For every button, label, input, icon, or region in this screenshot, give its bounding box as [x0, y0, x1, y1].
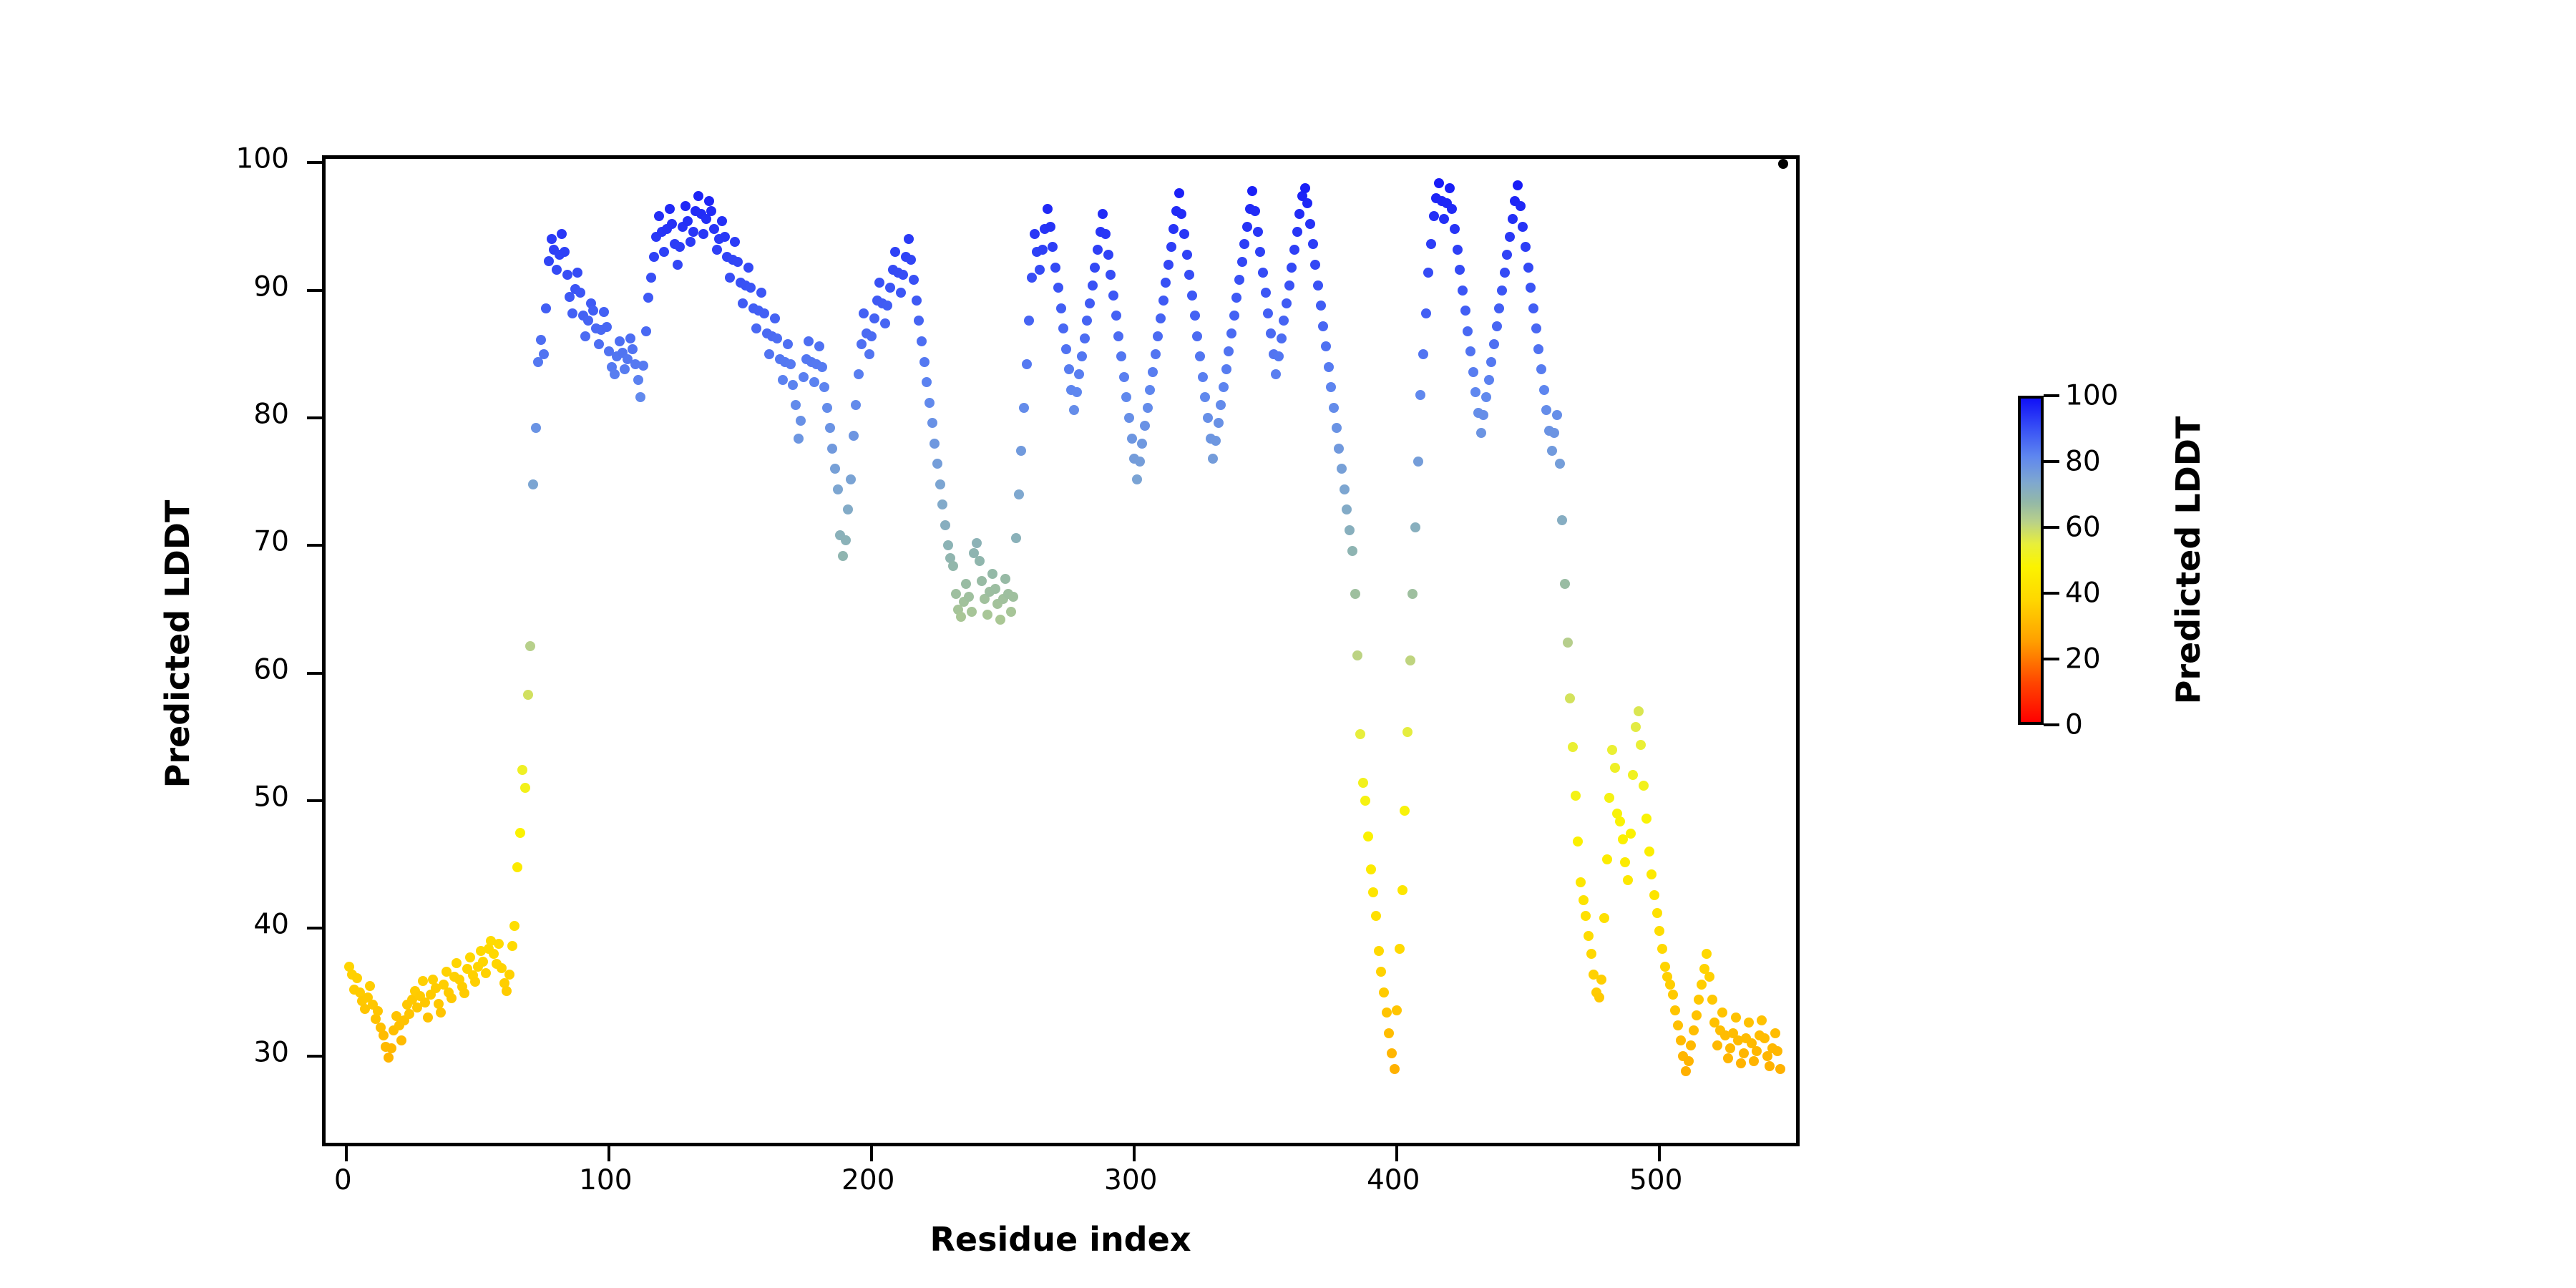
- scatter-point: [1531, 323, 1541, 333]
- scatter-point: [1137, 439, 1147, 449]
- scatter-point: [418, 976, 428, 986]
- scatter-point: [1038, 245, 1048, 255]
- scatter-point: [1639, 781, 1649, 791]
- scatter-point: [1184, 270, 1194, 280]
- scatter-point: [1048, 242, 1058, 252]
- scatter-point: [1407, 589, 1418, 599]
- scatter-point: [1179, 229, 1189, 239]
- scatter-point: [972, 538, 982, 548]
- x-axis-tick: [1133, 1143, 1136, 1161]
- scatter-point: [1676, 1035, 1686, 1045]
- scatter-point: [1132, 474, 1142, 484]
- scatter-point: [730, 237, 740, 247]
- scatter-point: [1620, 857, 1630, 867]
- scatter-point: [1156, 313, 1166, 323]
- x-axis-tick: [1658, 1143, 1661, 1161]
- colorbar-tick-label: 80: [2065, 448, 2101, 476]
- scatter-point: [1486, 357, 1496, 367]
- scatter-point: [904, 234, 914, 244]
- scatter-point: [1410, 522, 1420, 532]
- scatter-point: [1505, 232, 1515, 242]
- scatter-point: [1358, 778, 1368, 788]
- scatter-point: [1211, 436, 1221, 446]
- scatter-point: [1382, 1008, 1392, 1018]
- scatter-point: [1636, 740, 1646, 750]
- scatter-point: [1528, 303, 1538, 313]
- scatter-point: [1634, 706, 1644, 716]
- scatter-point: [1458, 286, 1468, 296]
- scatter-point: [1030, 229, 1040, 239]
- scatter-point: [896, 288, 906, 298]
- scatter-point: [987, 569, 997, 579]
- scatter-point: [1760, 1033, 1770, 1043]
- scatter-point: [523, 690, 533, 700]
- scatter-point: [1282, 298, 1292, 308]
- scatter-point: [1190, 311, 1200, 321]
- scatter-point: [1234, 275, 1244, 285]
- scatter-point: [1271, 369, 1281, 379]
- scatter-point: [1292, 227, 1302, 237]
- colorbar-tick-label: 20: [2065, 645, 2101, 673]
- scatter-point: [1379, 987, 1389, 997]
- scatter-point: [1116, 351, 1126, 361]
- scatter-point: [1723, 1053, 1733, 1063]
- scatter-point: [544, 256, 554, 266]
- scatter-point: [1027, 273, 1037, 283]
- scatter-point: [654, 211, 664, 221]
- scatter-point: [1221, 364, 1231, 374]
- scatter-point: [531, 423, 541, 433]
- scatter-point: [1770, 1028, 1780, 1038]
- scatter-point: [602, 322, 612, 332]
- scatter-point: [764, 349, 774, 359]
- scatter-point: [528, 479, 538, 489]
- scatter-point: [1355, 729, 1365, 739]
- scatter-point: [1549, 428, 1559, 438]
- scatter-point: [1043, 204, 1053, 214]
- scatter-point: [869, 313, 879, 323]
- scatter-point: [1453, 245, 1463, 255]
- scatter-point: [504, 970, 514, 980]
- x-axis-tick: [608, 1143, 610, 1161]
- scatter-point: [1313, 280, 1323, 291]
- scatter-point: [924, 398, 935, 408]
- scatter-point: [743, 263, 753, 273]
- scatter-point: [1539, 385, 1549, 395]
- scatter-point: [1151, 349, 1161, 359]
- scatter-point: [1681, 1066, 1691, 1076]
- scatter-point: [717, 216, 727, 226]
- scatter-point: [557, 229, 567, 239]
- scatter-point: [1019, 403, 1029, 413]
- scatter-point: [1098, 209, 1108, 219]
- scatter-point: [1045, 222, 1055, 232]
- scatter-point: [1465, 346, 1475, 356]
- scatter-point: [567, 308, 577, 318]
- scatter-point: [756, 288, 766, 298]
- scatter-point: [1460, 306, 1470, 316]
- scatter-point: [1219, 382, 1229, 392]
- scatter-point: [1712, 1040, 1722, 1050]
- scatter-point: [680, 201, 691, 211]
- scatter-point: [507, 941, 517, 951]
- scatter-point: [547, 234, 557, 244]
- scatter-point: [1584, 931, 1594, 941]
- scatter-point: [452, 958, 462, 968]
- colorbar-gradient: [2018, 396, 2044, 725]
- scatter-point: [796, 416, 806, 426]
- scatter-point: [909, 275, 919, 285]
- scatter-point: [843, 504, 853, 514]
- scatter-point: [1423, 268, 1433, 278]
- scatter-point: [1332, 423, 1342, 433]
- scatter-point: [1061, 344, 1071, 354]
- scatter-point: [1547, 446, 1557, 456]
- scatter-point: [1429, 211, 1439, 221]
- scatter-point: [1014, 489, 1024, 499]
- scatter-point: [846, 474, 856, 484]
- scatter-point: [859, 308, 869, 318]
- scatter-point: [628, 344, 638, 354]
- scatter-point: [1294, 209, 1304, 219]
- scatter-point: [688, 227, 698, 237]
- x-axis-tick-labels: 0100200300400500: [322, 1166, 1800, 1216]
- scatter-point: [1192, 331, 1202, 341]
- scatter-point: [1069, 405, 1079, 415]
- scatter-point: [943, 540, 953, 550]
- scatter-point: [1670, 1005, 1680, 1015]
- colorbar-tick: [2044, 658, 2059, 660]
- scatter-point: [1064, 364, 1074, 374]
- scatter-point: [1516, 201, 1526, 211]
- scatter-point: [851, 400, 861, 410]
- scatter-point: [1631, 722, 1641, 732]
- scatter-point: [1599, 913, 1609, 923]
- x-axis-tick: [345, 1143, 348, 1161]
- scatter-point: [575, 288, 585, 298]
- scatter-point: [1035, 265, 1045, 275]
- scatter-point: [1176, 209, 1186, 219]
- scatter-point: [1187, 291, 1197, 301]
- scatter-point: [1405, 655, 1415, 665]
- scatter-point: [1573, 836, 1583, 847]
- scatter-point: [1775, 1064, 1785, 1074]
- scatter-point: [1345, 525, 1355, 535]
- scatter-point: [930, 439, 940, 449]
- scatter-point: [794, 434, 804, 444]
- scatter-point: [838, 551, 848, 561]
- scatter-point: [1673, 1020, 1683, 1030]
- scatter-point: [867, 331, 877, 341]
- scatter-point: [396, 1035, 406, 1045]
- scatter-point: [1697, 980, 1707, 990]
- scatter-point: [948, 561, 958, 571]
- scatter-point: [1119, 372, 1129, 382]
- scatter-point: [1093, 245, 1103, 255]
- scatter-point: [1237, 257, 1247, 267]
- scatter-point: [1161, 278, 1171, 288]
- scatter-point: [1216, 400, 1226, 410]
- scatter-point: [1736, 1058, 1746, 1068]
- scatter-point: [1277, 333, 1287, 343]
- scatter-point: [1182, 250, 1192, 260]
- scatter-point: [990, 584, 1000, 594]
- scatter-point: [935, 479, 945, 489]
- scatter-point: [1478, 410, 1488, 420]
- scatter-point: [841, 535, 851, 545]
- scatter-point: [1500, 268, 1510, 278]
- colorbar-tick: [2044, 460, 2059, 463]
- scatter-point: [1250, 206, 1260, 216]
- scatter-point: [1363, 831, 1373, 841]
- x-axis-tick: [870, 1143, 873, 1161]
- scatter-point: [932, 459, 942, 469]
- scatter-point: [1368, 887, 1378, 897]
- scatter-point: [638, 361, 648, 371]
- scatter-point: [539, 349, 549, 359]
- scatter-point: [1135, 457, 1145, 467]
- scatter-point: [1080, 333, 1090, 343]
- scatter-point: [633, 375, 643, 385]
- scatter-point: [1387, 1048, 1397, 1058]
- scatter-point: [1494, 303, 1504, 313]
- scatter-point: [738, 298, 748, 308]
- x-axis-tick-label: 400: [1367, 1166, 1420, 1194]
- scatter-point: [635, 392, 645, 402]
- scatter-point: [594, 339, 604, 349]
- scatter-point: [977, 576, 987, 586]
- scatter-point: [1326, 382, 1336, 392]
- scatter-point: [1652, 908, 1662, 918]
- scatter-point: [854, 369, 864, 379]
- scatter-point: [1127, 434, 1137, 444]
- scatter-point: [1053, 283, 1063, 293]
- y-axis-tick: [307, 161, 326, 164]
- scatter-point: [1660, 962, 1670, 972]
- colorbar-tick: [2044, 394, 2059, 397]
- scatter-point: [917, 336, 927, 346]
- scatter-point: [1694, 995, 1704, 1005]
- scatter-point: [1374, 946, 1384, 956]
- scatter-point: [1596, 975, 1606, 985]
- scatter-point: [1521, 242, 1531, 252]
- scatter-point: [1101, 229, 1111, 239]
- scatter-point: [1289, 245, 1299, 255]
- scatter-point: [995, 615, 1005, 625]
- scatter-point: [940, 520, 950, 530]
- scatter-point: [1447, 204, 1457, 214]
- colorbar-label: Predicted LDDT: [2169, 416, 2207, 705]
- scatter-point: [1749, 1056, 1759, 1066]
- scatter-point: [1607, 745, 1617, 755]
- scatter-point: [1707, 995, 1717, 1005]
- scatter-point: [1229, 311, 1239, 321]
- scatter-point: [890, 247, 900, 257]
- scatter-point: [759, 308, 769, 318]
- scatter-point: [1649, 890, 1659, 900]
- scatter-point: [1684, 1056, 1694, 1066]
- scatter-point: [509, 921, 519, 931]
- scatter-point: [1581, 911, 1591, 921]
- scatter-point: [1302, 198, 1312, 208]
- scatter-point: [914, 316, 924, 326]
- x-axis-tick-label: 200: [841, 1166, 894, 1194]
- scatter-point: [447, 993, 457, 1003]
- scatter-point: [1360, 796, 1370, 806]
- scatter-point: [720, 232, 730, 242]
- y-axis-tick: [307, 927, 326, 930]
- scatter-point: [799, 372, 809, 382]
- scatter-point: [665, 204, 675, 214]
- scatter-point: [1350, 589, 1360, 599]
- scatter-point: [709, 224, 719, 234]
- y-axis-tick-label: 60: [253, 655, 289, 683]
- scatter-point: [1318, 321, 1328, 331]
- scatter-point: [686, 237, 696, 247]
- y-axis-tick: [307, 416, 326, 419]
- scatter-point: [1384, 1028, 1394, 1038]
- x-axis-tick: [1395, 1143, 1398, 1161]
- scatter-point: [1765, 1061, 1775, 1071]
- scatter-point: [1266, 328, 1276, 338]
- scatter-point: [1752, 1046, 1762, 1056]
- scatter-point: [1644, 847, 1654, 857]
- scatter-point: [1352, 650, 1362, 660]
- scatter-point: [1072, 387, 1082, 397]
- scatter-point: [1153, 331, 1163, 341]
- colorbar-tick: [2044, 592, 2059, 595]
- scatter-point: [1308, 239, 1318, 249]
- scatter-point: [1481, 392, 1491, 402]
- scatter-point: [646, 273, 656, 283]
- scatter-point: [1692, 1010, 1702, 1020]
- scatter-point: [1513, 180, 1523, 190]
- scatter-point: [1397, 885, 1407, 895]
- scatter-point: [1502, 250, 1512, 260]
- scatter-point: [817, 362, 827, 372]
- scatter-point: [1565, 693, 1575, 703]
- scatter-point: [1111, 311, 1121, 321]
- scatter-point: [610, 369, 620, 379]
- scatter-point: [1214, 418, 1224, 428]
- scatter-point: [1541, 405, 1551, 415]
- scatter-point: [1008, 592, 1018, 602]
- x-axis-label: Residue index: [930, 1220, 1191, 1259]
- scatter-point: [1489, 339, 1499, 349]
- scatter-point: [1074, 369, 1084, 379]
- scatter-point: [1166, 242, 1176, 252]
- scatter-point: [1757, 1015, 1767, 1025]
- scatter-point: [1731, 1013, 1741, 1023]
- y-axis-tick-label: 70: [253, 528, 289, 556]
- y-axis-tick-label: 80: [253, 401, 289, 429]
- y-axis-label: Predicted LDDT: [158, 500, 197, 789]
- scatter-point: [1390, 1064, 1400, 1074]
- scatter-point: [1022, 359, 1032, 369]
- scatter-point: [1402, 727, 1413, 737]
- scatter-point: [1016, 446, 1026, 456]
- scatter-point: [1395, 944, 1405, 954]
- scatter-point: [1576, 877, 1586, 887]
- scatter-point: [1725, 1043, 1735, 1053]
- scatter-point: [459, 988, 469, 998]
- scatter-point: [1463, 326, 1473, 336]
- x-axis-tick-label: 0: [334, 1166, 352, 1194]
- scatter-point: [1484, 375, 1494, 385]
- scatter-point: [675, 242, 685, 252]
- scatter-point: [788, 380, 798, 390]
- scatter-point: [698, 229, 708, 239]
- scatter-point: [857, 339, 867, 349]
- y-axis-tick: [307, 544, 326, 547]
- scatter-point: [1258, 268, 1268, 278]
- scatter-point: [927, 418, 937, 428]
- scatter-point: [1329, 403, 1339, 413]
- scatter-point: [580, 331, 590, 341]
- scatter-point: [1476, 428, 1486, 438]
- colorbar-tick-label: 40: [2065, 580, 2101, 608]
- scatter-point: [1610, 763, 1620, 773]
- scatter-point: [1604, 793, 1614, 803]
- y-axis-tick-labels: 30405060708090100: [0, 155, 315, 1146]
- scatter-point: [1434, 178, 1444, 188]
- scatter-point: [1533, 344, 1543, 354]
- scatter-point: [1508, 214, 1518, 224]
- y-axis-tick-label: 100: [236, 145, 289, 173]
- scatter-point: [1665, 980, 1675, 990]
- scatter-point: [649, 252, 659, 262]
- scatter-point: [733, 257, 743, 267]
- scatter-point: [683, 216, 693, 226]
- scatter-point: [880, 318, 890, 328]
- scatter-point: [1050, 263, 1060, 273]
- scatter-point: [1163, 260, 1174, 270]
- scatter-point: [786, 359, 796, 369]
- scatter-point: [1492, 321, 1502, 331]
- scatter-point: [1376, 967, 1386, 977]
- scatter-point: [1563, 638, 1573, 648]
- scatter-point: [1208, 454, 1218, 464]
- scatter-point: [1085, 298, 1095, 308]
- scatter-point: [599, 307, 609, 317]
- scatter-point: [975, 556, 985, 566]
- scatter-point: [772, 333, 782, 343]
- scatter-point: [827, 444, 837, 454]
- scatter-point: [562, 270, 572, 280]
- scatter-point: [1103, 250, 1113, 260]
- scatter-point: [1279, 316, 1289, 326]
- scatter-point: [956, 612, 966, 622]
- scatter-point: [1077, 351, 1087, 361]
- plot-area: [322, 155, 1800, 1146]
- scatter-point: [967, 607, 977, 617]
- scatter-point: [1337, 464, 1347, 474]
- scatter-point: [502, 986, 512, 996]
- scatter-point: [1287, 263, 1297, 273]
- scatter-point: [1300, 183, 1310, 193]
- scatter-point: [1560, 579, 1570, 589]
- scatter-point: [1342, 504, 1352, 514]
- y-axis-tick: [307, 672, 326, 675]
- scatter-point: [1334, 444, 1344, 454]
- scatter-point: [1426, 239, 1436, 249]
- scatter-point: [1203, 413, 1213, 423]
- scatter-point: [659, 247, 669, 257]
- scatter-point: [1439, 214, 1449, 224]
- scatter-point: [1324, 362, 1334, 372]
- scatter-point: [885, 283, 895, 293]
- scatter-point: [1124, 413, 1134, 423]
